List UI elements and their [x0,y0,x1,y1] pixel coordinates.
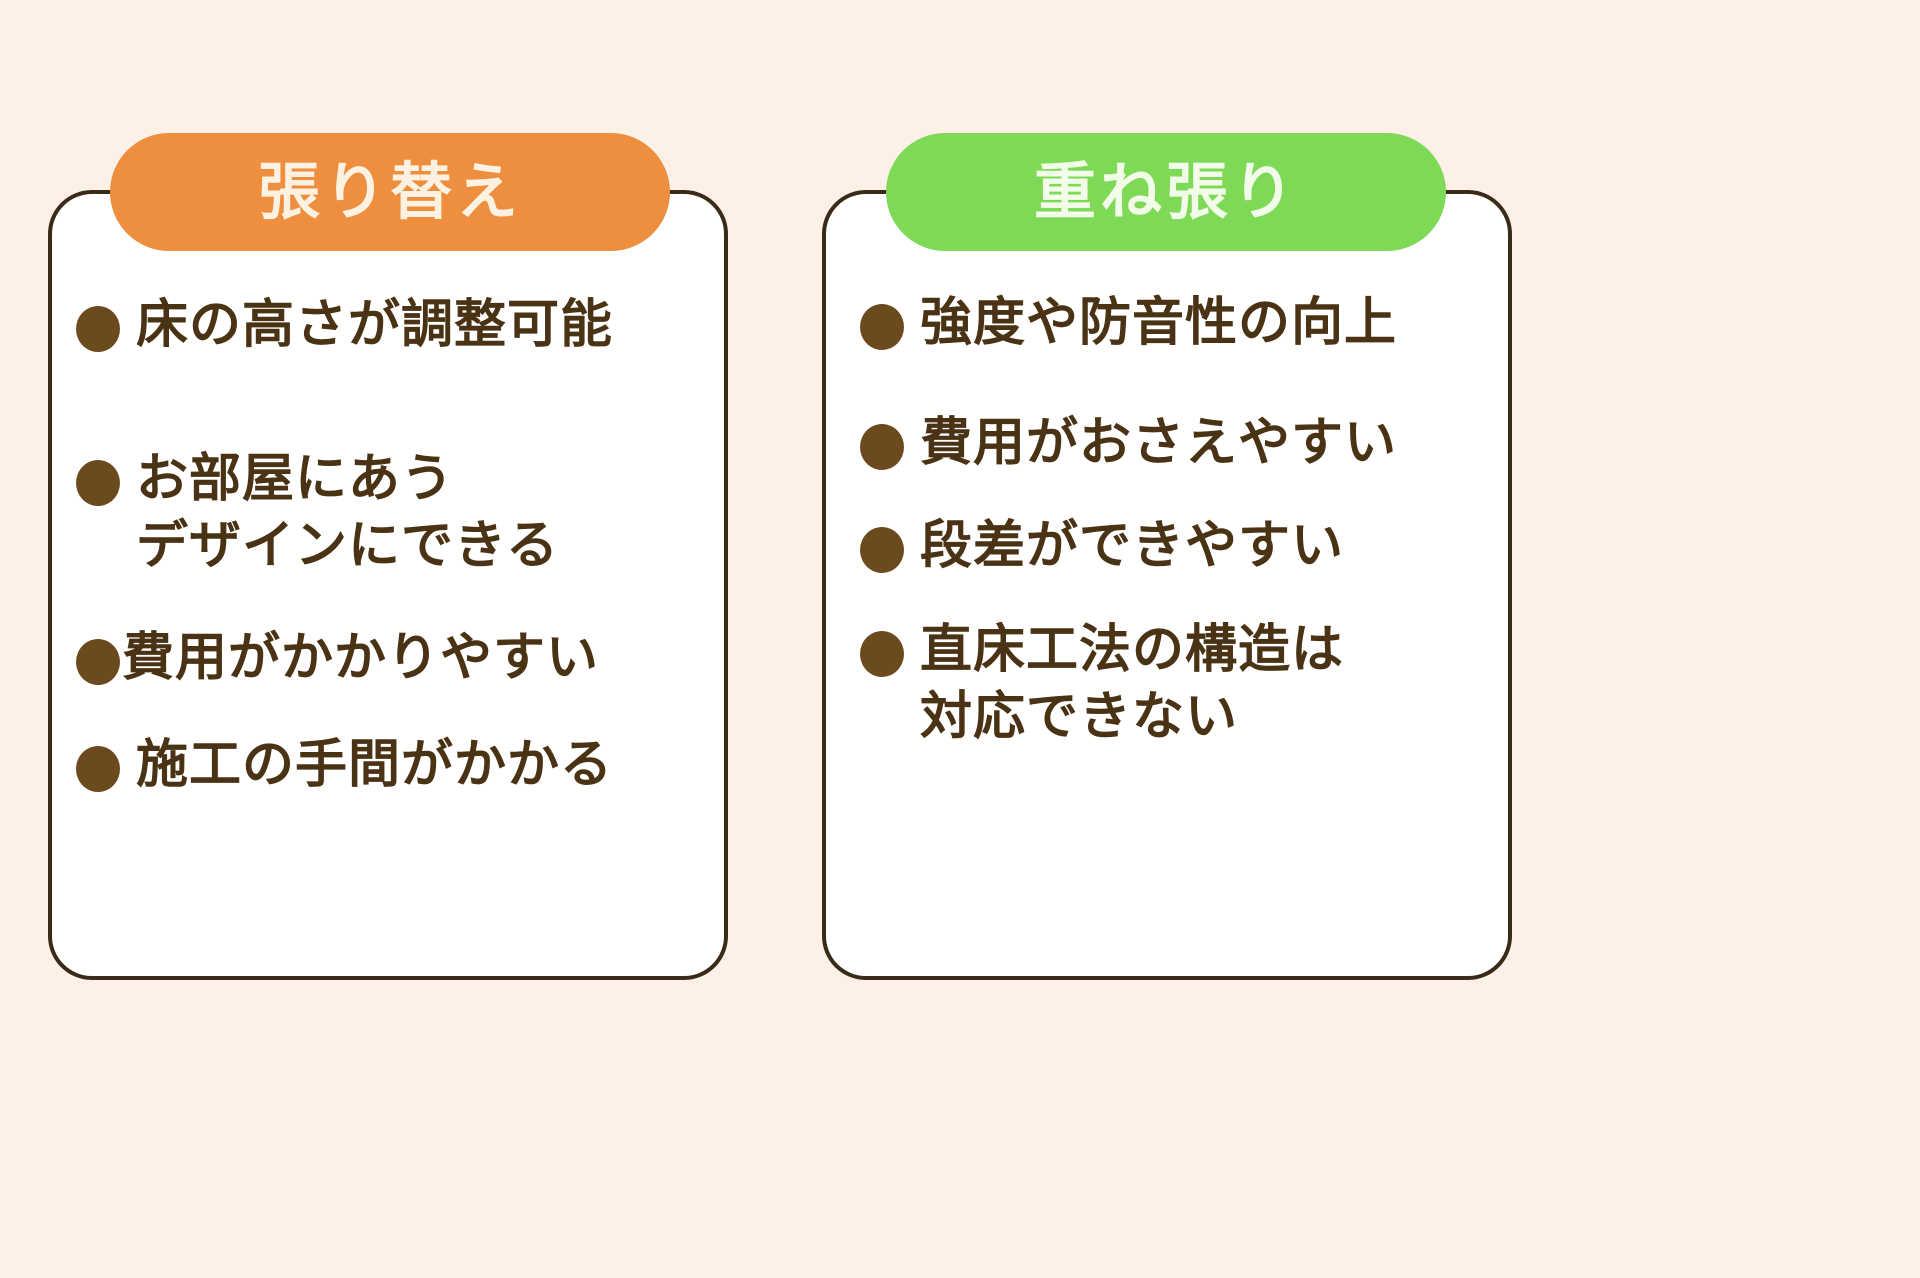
feature-list-harikae: 床の高さが調整可能 お部屋にあう デザインにできる 費用がかかりやすい 施工の手… [52,194,724,800]
bullet-icon [860,424,904,470]
list-item-label: 施工の手間がかかる [136,732,613,800]
bullet-icon [76,639,120,685]
list-item: 施工の手間がかかる [76,732,704,800]
bullet-icon [76,746,120,792]
badge-harikae: 張り替え [110,133,670,251]
list-item: 床の高さが調整可能 [76,292,704,360]
bullet-icon [860,527,904,573]
list-item-label: 段差ができやすい [920,513,1344,581]
list-item-label: 床の高さが調整可能 [136,292,613,360]
list-item-label: お部屋にあう デザインにできる [136,446,559,581]
list-item-label: 費用がおさえやすい [920,410,1397,478]
list-item: お部屋にあう デザインにできる [76,446,704,581]
bullet-icon [860,304,904,350]
bullet-icon [76,306,120,352]
list-item: 直床工法の構造は 対応できない [860,617,1488,752]
list-item-label: 直床工法の構造は 対応できない [920,617,1344,752]
list-item: 費用がおさえやすい [860,410,1488,478]
list-item: 段差ができやすい [860,513,1488,581]
list-item-label: 強度や防音性の向上 [920,290,1397,358]
list-item-label: 費用がかかりやすい [122,625,599,693]
badge-label: 張り替え [258,161,522,223]
card-kasanebari: 強度や防音性の向上 費用がおさえやすい 段差ができやすい 直床工法の構造は 対応… [822,190,1512,980]
badge-label: 重ね張り [1034,161,1298,223]
comparison-graphic: 床の高さが調整可能 お部屋にあう デザインにできる 費用がかかりやすい 施工の手… [0,0,1920,1278]
badge-kasanebari: 重ね張り [886,133,1446,251]
bullet-icon [860,631,904,677]
bullet-icon [76,460,120,506]
list-item: 費用がかかりやすい [76,625,704,693]
card-harikae: 床の高さが調整可能 お部屋にあう デザインにできる 費用がかかりやすい 施工の手… [48,190,728,980]
list-item: 強度や防音性の向上 [860,290,1488,358]
feature-list-kasanebari: 強度や防音性の向上 費用がおさえやすい 段差ができやすい 直床工法の構造は 対応… [826,194,1508,752]
